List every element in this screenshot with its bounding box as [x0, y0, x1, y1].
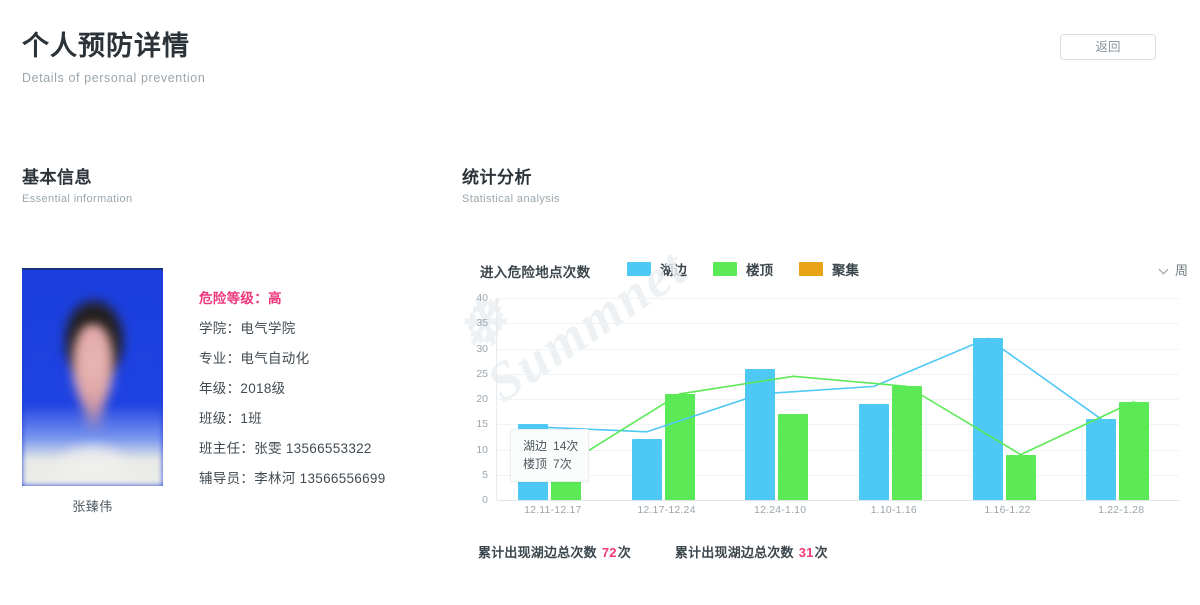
info-row-head-teacher: 班主任：张雯 13566553322 [199, 434, 386, 464]
x-axis-tick: 1.16-1.22 [951, 504, 1065, 516]
statistics-chart-card: 进入危险地点次数 湖边 楼顶 聚集 周 [462, 246, 1178, 566]
footer-stat-label: 累计出现湖边总次数 [675, 545, 794, 560]
x-axis-tick: 1.10-1.16 [837, 504, 951, 516]
page-header: 个人预防详情 Details of personal prevention 返回 [0, 0, 1200, 100]
profile-info-list: 危险等级：高 学院：电气学院 专业：电气自动化 年级：2018级 班级：1班 班… [199, 284, 386, 494]
info-label: 危险等级： [199, 291, 268, 306]
chevron-down-icon [1160, 265, 1169, 274]
tooltip-label: 楼顶 [523, 457, 547, 471]
chart-tooltip: 湖边14次 楼顶7次 [510, 429, 589, 482]
legend-item-lake[interactable]: 湖边 [627, 259, 687, 279]
footer-stat-number: 72 [602, 545, 617, 560]
x-axis: 12.11-12.1712.17-12.2412.24-1.101.10-1.1… [496, 504, 1178, 524]
basic-info-subtitle: Essential information [22, 193, 133, 205]
statistics-section-heading: 统计分析 Statistical analysis [462, 163, 560, 205]
info-value: 电气自动化 [240, 351, 309, 366]
basic-info-section-heading: 基本信息 Essential information [22, 163, 133, 205]
footer-stat-label: 累计出现湖边总次数 [478, 545, 597, 560]
grid-line [497, 500, 1179, 501]
page-title: 个人预防详情 [22, 24, 190, 63]
chart-footer-stats: 累计出现湖边总次数72次 累计出现湖边总次数31次 [478, 542, 828, 561]
chart-plot-area: ❄ Summnet 0510152025303540 12.11-12.1712… [462, 298, 1178, 510]
footer-stat-roof-total: 累计出现湖边总次数31次 [675, 542, 828, 561]
legend-swatch-lake-icon [627, 262, 651, 276]
info-label: 班级： [199, 411, 240, 426]
info-value: 高 [268, 291, 282, 306]
footer-stat-unit: 次 [618, 545, 631, 560]
info-value: 1班 [240, 411, 262, 426]
legend-swatch-roof-icon [713, 262, 737, 276]
legend-item-roof[interactable]: 楼顶 [713, 259, 773, 279]
y-axis-tick: 35 [462, 317, 488, 329]
info-label: 年级： [199, 381, 240, 396]
time-range-select[interactable]: 周 [1160, 260, 1188, 279]
y-axis-tick: 25 [462, 368, 488, 380]
legend-item-gather[interactable]: 聚集 [799, 259, 859, 279]
y-axis-tick: 20 [462, 393, 488, 405]
chart-toolbar: 进入危险地点次数 湖边 楼顶 聚集 周 [462, 258, 1178, 284]
info-label: 学院： [199, 321, 240, 336]
statistics-title: 统计分析 [462, 163, 560, 188]
info-row-counselor: 辅导员：李林河 13566556699 [199, 464, 386, 494]
info-row-major: 专业：电气自动化 [199, 344, 386, 374]
y-axis-tick: 30 [462, 343, 488, 355]
tooltip-label: 湖边 [523, 439, 547, 453]
footer-stat-unit: 次 [815, 545, 828, 560]
y-axis-tick: 5 [462, 469, 488, 481]
info-value: 李林河 13566556699 [254, 471, 385, 486]
legend-label-roof: 楼顶 [746, 259, 773, 279]
info-label: 辅导员： [199, 471, 254, 486]
tooltip-row-lake: 湖边14次 [523, 437, 578, 455]
info-row-class: 班级：1班 [199, 404, 386, 434]
y-axis-tick: 0 [462, 494, 488, 506]
x-axis-tick: 12.11-12.17 [496, 504, 610, 516]
y-axis-tick: 15 [462, 418, 488, 430]
tooltip-row-roof: 楼顶7次 [523, 455, 578, 473]
trend-line-roof [566, 376, 1134, 464]
info-label: 班主任： [199, 441, 254, 456]
trend-line-lake [533, 338, 1101, 431]
info-row-college: 学院：电气学院 [199, 314, 386, 344]
y-axis-tick: 40 [462, 292, 488, 304]
basic-info-title: 基本信息 [22, 163, 133, 188]
y-axis-tick: 10 [462, 444, 488, 456]
info-label: 专业： [199, 351, 240, 366]
avatar-neck [80, 389, 107, 432]
chart-trend-lines [496, 298, 1178, 500]
info-value: 张雯 13566553322 [254, 441, 372, 456]
legend-swatch-gather-icon [799, 262, 823, 276]
info-row-risk-level: 危险等级：高 [199, 284, 386, 314]
tooltip-value: 7次 [553, 457, 572, 471]
x-axis-tick: 12.24-1.10 [723, 504, 837, 516]
chart-title: 进入危险地点次数 [480, 261, 590, 281]
info-value: 电气学院 [240, 321, 295, 336]
y-axis: 0510152025303540 [462, 298, 488, 500]
info-row-grade: 年级：2018级 [199, 374, 386, 404]
time-range-label: 周 [1175, 260, 1188, 279]
tooltip-value: 14次 [553, 439, 578, 453]
chart-legend: 湖边 楼顶 聚集 [627, 259, 859, 279]
footer-stat-number: 31 [799, 545, 814, 560]
info-value: 2018级 [240, 381, 285, 396]
x-axis-tick: 12.17-12.24 [610, 504, 724, 516]
footer-stat-lake-total: 累计出现湖边总次数72次 [478, 542, 631, 561]
profile-photo-block: 张臻伟 [22, 268, 172, 515]
back-button[interactable]: 返回 [1060, 34, 1156, 60]
personal-prevention-page: 个人预防详情 Details of personal prevention 返回… [0, 0, 1200, 605]
avatar [22, 268, 163, 486]
statistics-subtitle: Statistical analysis [462, 193, 560, 205]
x-axis-tick: 1.22-1.28 [1064, 504, 1178, 516]
legend-label-lake: 湖边 [660, 259, 687, 279]
page-subtitle: Details of personal prevention [22, 71, 205, 85]
legend-label-gather: 聚集 [832, 259, 859, 279]
profile-name: 张臻伟 [22, 496, 163, 515]
